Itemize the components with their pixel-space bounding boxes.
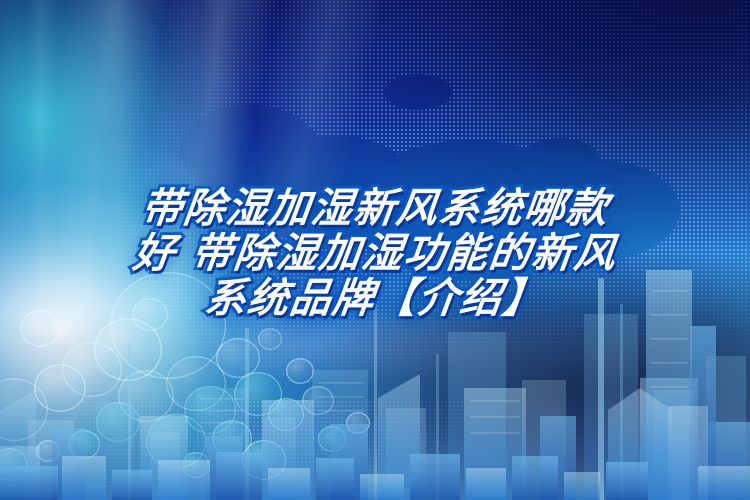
title-line-3: 系统品牌【介绍】 bbox=[0, 276, 750, 321]
title-line-1: 带除湿加湿新风系统哪款 bbox=[0, 186, 750, 231]
promo-banner: 带除湿加湿新风系统哪款 好 带除湿加湿功能的新风 系统品牌【介绍】 bbox=[0, 0, 750, 500]
banner-title: 带除湿加湿新风系统哪款 好 带除湿加湿功能的新风 系统品牌【介绍】 bbox=[0, 186, 750, 321]
title-line-2: 好 带除湿加湿功能的新风 bbox=[0, 231, 750, 276]
